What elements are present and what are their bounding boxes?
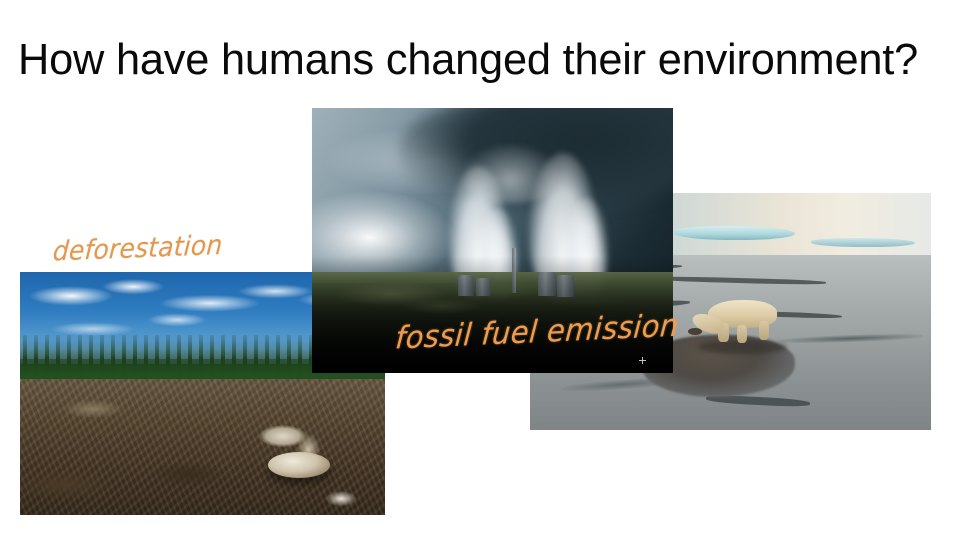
page-title: How have humans changed their environmen… xyxy=(18,36,934,84)
polar-bear-leg xyxy=(759,321,769,340)
slide-canvas: How have humans changed their environmen… xyxy=(0,0,960,540)
deforestation-label: deforestation xyxy=(52,229,224,267)
deforestation-cleared-ground xyxy=(20,379,385,515)
tree-stump xyxy=(268,452,330,478)
cursor-marker-icon xyxy=(639,357,646,364)
polar-bear-leg xyxy=(737,325,747,344)
